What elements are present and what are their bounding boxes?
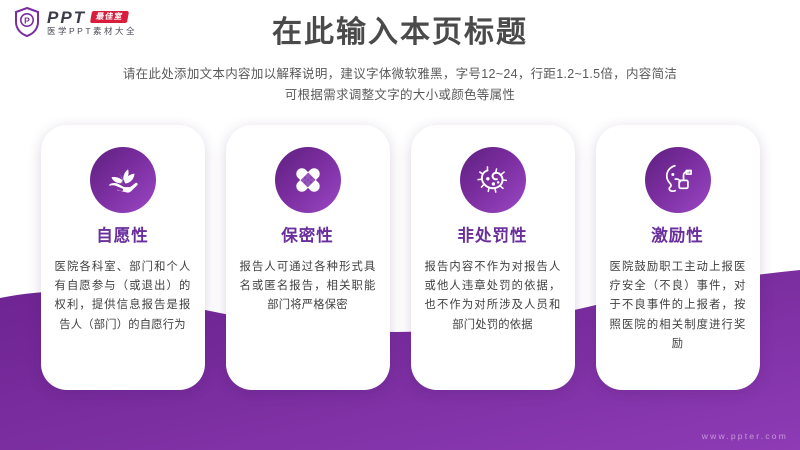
brand-logo-text: PPT 最佳室 医学PPT素材大全 [47,9,137,36]
hand-plant-icon [90,147,156,213]
card-title: 保密性 [281,228,334,245]
card-body: 医院各科室、部门和个人有自愿参与（或退出）的权利，提供信息报告是报告人（部门）的… [53,258,193,336]
slide-root: P PPT 最佳室 医学PPT素材大全 在此输入本页标题 请在此处添加文本内容加… [0,0,800,450]
feature-card-incentive[interactable]: 激励性 医院鼓励职工主动上报医疗安全（不良）事件，对于不良事件的上报者，按照医院… [596,125,760,390]
brand-badge: 最佳室 [90,11,129,23]
card-title: 激励性 [651,228,704,245]
svg-text:P: P [24,16,30,26]
footer-watermark: www.ppter.com [702,431,788,441]
subtitle-line-1: 请在此处添加文本内容加以解释说明，建议字体微软雅黑，字号12~24，行距1.2~… [0,64,800,86]
feature-card-confidential[interactable]: 保密性 报告人可通过各种形式具名或匿名报告，相关职能部门将严格保密 [226,125,390,390]
brand-name: PPT [47,9,86,26]
inhaler-face-icon [645,147,711,213]
page-subtitle: 请在此处添加文本内容加以解释说明，建议字体微软雅黑，字号12~24，行距1.2~… [0,64,800,108]
card-body: 医院鼓励职工主动上报医疗安全（不良）事件，对于不良事件的上报者，按照医院的相关制… [608,258,748,355]
card-body: 报告内容不作为对报告人或他人违章处罚的依据，也不作为对所涉及人员和部门处罚的依据 [423,258,563,336]
feature-card-non-punitive[interactable]: 非处罚性 报告内容不作为对报告人或他人违章处罚的依据，也不作为对所涉及人员和部门… [411,125,575,390]
bacteria-icon [460,147,526,213]
card-title: 非处罚性 [458,228,528,245]
feature-card-list: 自愿性 医院各科室、部门和个人有自愿参与（或退出）的权利，提供信息报告是报告人（… [0,125,800,390]
brand-tagline: 医学PPT素材大全 [47,27,137,36]
feature-card-voluntary[interactable]: 自愿性 医院各科室、部门和个人有自愿参与（或退出）的权利，提供信息报告是报告人（… [41,125,205,390]
card-body: 报告人可通过各种形式具名或匿名报告，相关职能部门将严格保密 [238,258,378,316]
card-title: 自愿性 [96,228,149,245]
crossed-bandages-icon [275,147,341,213]
shield-logo-icon: P [14,7,40,37]
subtitle-line-2: 可根据需求调整文字的大小或颜色等属性 [0,85,800,107]
brand-logo[interactable]: P PPT 最佳室 医学PPT素材大全 [14,7,137,37]
